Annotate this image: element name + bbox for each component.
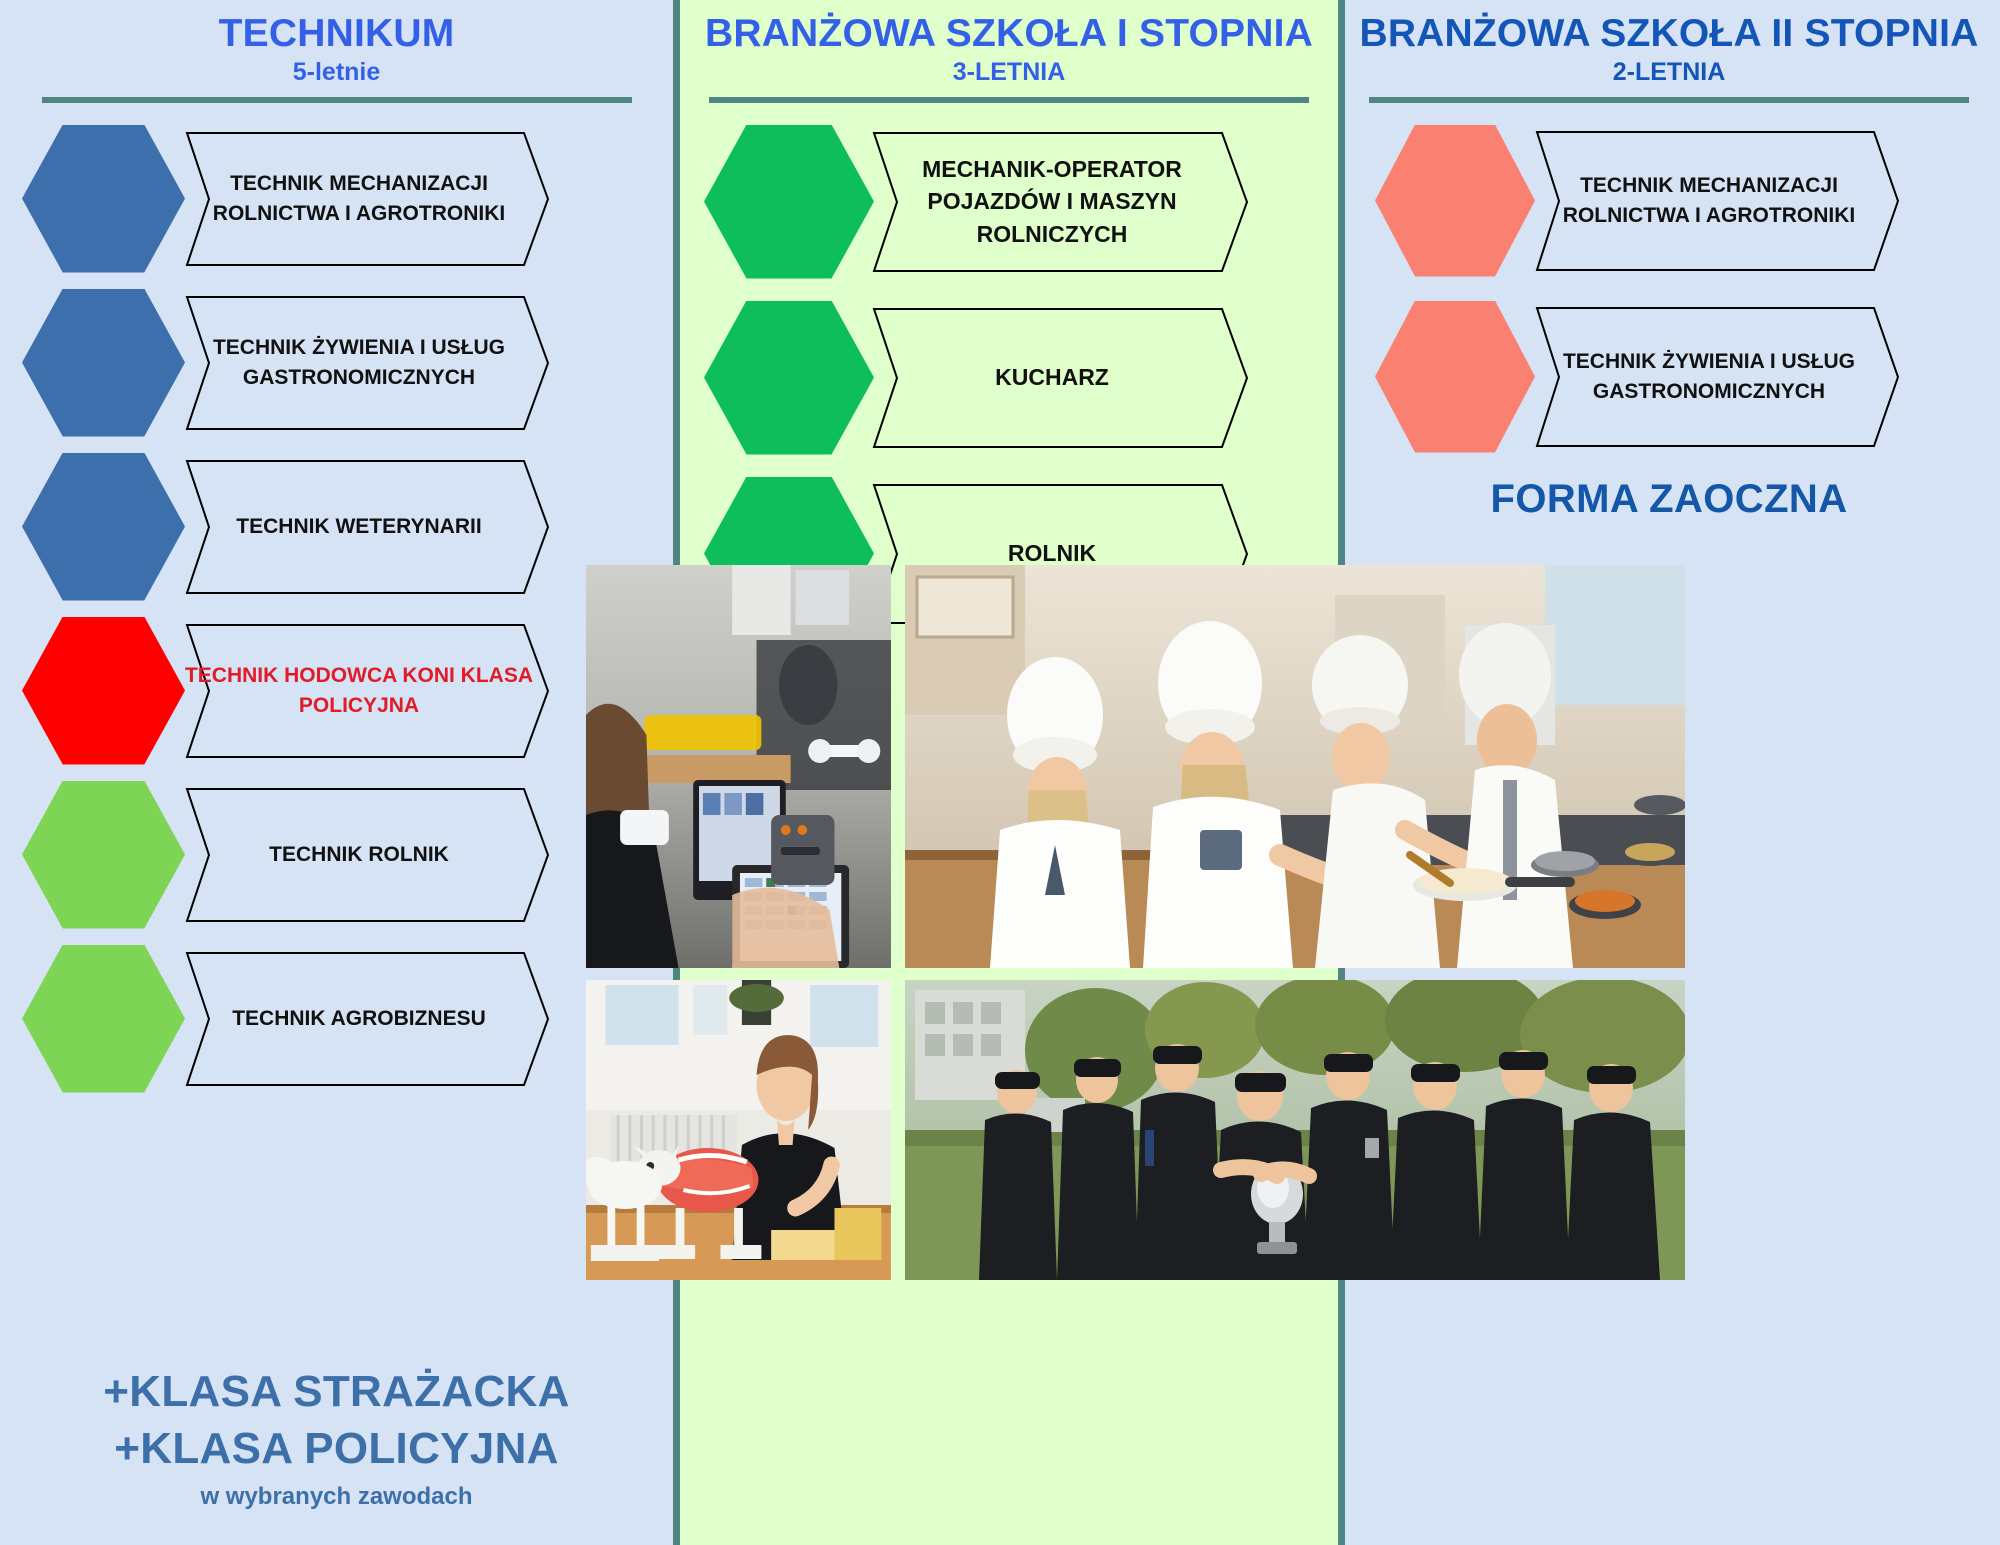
- hexagon-marker: [1375, 125, 1535, 277]
- extra-classes-note: +KLASA STRAŻACKA +KLASA POLICYJNA w wybr…: [0, 1364, 673, 1511]
- program-label: TECHNIK HODOWCA KONI KLASA POLICYJNA: [169, 661, 549, 721]
- program-row[interactable]: MECHANIK-OPERATOR POJAZDÓW I MASZYN ROLN…: [704, 125, 1338, 279]
- forma-zaoczna-label: FORMA ZAOCZNA: [1345, 477, 1993, 522]
- program-chevron[interactable]: KUCHARZ: [856, 308, 1248, 448]
- program-label: TECHNIK MECHANIZACJI ROLNICTWA I AGROTRO…: [169, 169, 549, 229]
- photo-veterinary-model: [586, 980, 891, 1280]
- hexagon-marker: [704, 301, 874, 455]
- program-row[interactable]: TECHNIK AGROBIZNESU: [22, 945, 673, 1093]
- program-row[interactable]: KUCHARZ: [704, 301, 1338, 455]
- column-header-branzowa-ii: BRANŻOWA SZKOŁA II STOPNIA 2-LETNIA: [1345, 0, 1993, 103]
- column-technikum: TECHNIKUM 5-letnie TECHNIK MECHANIZACJI …: [0, 0, 673, 1545]
- column-title: BRANŻOWA SZKOŁA I STOPNIA: [680, 14, 1338, 55]
- program-label: ROLNIK: [998, 537, 1106, 570]
- hexagon-marker: [22, 289, 185, 437]
- column-subtitle: 3-LETNIA: [680, 60, 1338, 85]
- program-chevron[interactable]: TECHNIK MECHANIZACJI ROLNICTWA I AGROTRO…: [169, 132, 549, 266]
- column-subtitle: 5-letnie: [0, 60, 673, 85]
- program-chevron[interactable]: TECHNIK HODOWCA KONI KLASA POLICYJNA: [169, 624, 549, 758]
- hexagon-marker: [704, 125, 874, 279]
- program-list-technikum: TECHNIK MECHANIZACJI ROLNICTWA I AGROTRO…: [0, 103, 673, 1093]
- column-title: BRANŻOWA SZKOŁA II STOPNIA: [1345, 14, 1993, 55]
- program-list-branzowa-ii: TECHNIK MECHANIZACJI ROLNICTWA I AGROTRO…: [1345, 103, 1993, 453]
- hexagon-marker: [22, 617, 185, 765]
- hexagon-marker: [1375, 301, 1535, 453]
- photo-drone-lab: [586, 565, 891, 968]
- program-chevron[interactable]: TECHNIK ŻYWIENIA I USŁUG GASTRONOMICZNYC…: [1519, 307, 1899, 447]
- program-list-branzowa-i: MECHANIK-OPERATOR POJAZDÓW I MASZYN ROLN…: [680, 103, 1338, 631]
- column-header-technikum: TECHNIKUM 5-letnie: [0, 0, 673, 103]
- program-row[interactable]: TECHNIK MECHANIZACJI ROLNICTWA I AGROTRO…: [1375, 125, 1993, 277]
- program-row[interactable]: TECHNIK MECHANIZACJI ROLNICTWA I AGROTRO…: [22, 125, 673, 273]
- program-label: TECHNIK MECHANIZACJI ROLNICTWA I AGROTRO…: [1519, 171, 1899, 231]
- photo-culinary-class-image: [905, 565, 1685, 968]
- program-row[interactable]: TECHNIK ŻYWIENIA I USŁUG GASTRONOMICZNYC…: [1375, 301, 1993, 453]
- note-line-qualifier: w wybranych zawodach: [0, 1483, 673, 1511]
- program-chevron[interactable]: MECHANIK-OPERATOR POJAZDÓW I MASZYN ROLN…: [856, 132, 1248, 272]
- photo-uniformed-class-image: [905, 980, 1685, 1280]
- photo-drone-lab-image: [586, 565, 891, 968]
- program-chevron[interactable]: TECHNIK ŻYWIENIA I USŁUG GASTRONOMICZNYC…: [169, 296, 549, 430]
- program-label: TECHNIK WETERYNARII: [226, 512, 491, 542]
- program-row[interactable]: TECHNIK ŻYWIENIA I USŁUG GASTRONOMICZNYC…: [22, 289, 673, 437]
- note-line-firefighter: +KLASA STRAŻACKA: [0, 1364, 673, 1420]
- program-label: MECHANIK-OPERATOR POJAZDÓW I MASZYN ROLN…: [856, 153, 1248, 251]
- column-header-branzowa-i: BRANŻOWA SZKOŁA I STOPNIA 3-LETNIA: [680, 0, 1338, 103]
- column-title: TECHNIKUM: [0, 14, 673, 55]
- program-label: TECHNIK ROLNIK: [259, 840, 459, 870]
- program-chevron[interactable]: TECHNIK MECHANIZACJI ROLNICTWA I AGROTRO…: [1519, 131, 1899, 271]
- program-chevron[interactable]: TECHNIK WETERYNARII: [169, 460, 549, 594]
- program-chevron[interactable]: TECHNIK AGROBIZNESU: [169, 952, 549, 1086]
- photo-collage: [586, 565, 2000, 1545]
- program-row[interactable]: TECHNIK WETERYNARII: [22, 453, 673, 601]
- photo-culinary-class: [905, 565, 1685, 968]
- program-label: TECHNIK AGROBIZNESU: [222, 1004, 496, 1034]
- program-label: TECHNIK ŻYWIENIA I USŁUG GASTRONOMICZNYC…: [169, 333, 549, 393]
- program-chevron[interactable]: TECHNIK ROLNIK: [169, 788, 549, 922]
- photo-veterinary-model-image: [586, 980, 891, 1280]
- hexagon-marker: [22, 781, 185, 929]
- program-label: KUCHARZ: [985, 361, 1119, 394]
- hexagon-marker: [22, 945, 185, 1093]
- photo-uniformed-class: [905, 980, 1685, 1280]
- hexagon-marker: [22, 453, 185, 601]
- program-row[interactable]: TECHNIK HODOWCA KONI KLASA POLICYJNA: [22, 617, 673, 765]
- column-subtitle: 2-LETNIA: [1345, 60, 1993, 85]
- hexagon-marker: [22, 125, 185, 273]
- program-row[interactable]: TECHNIK ROLNIK: [22, 781, 673, 929]
- program-label: TECHNIK ŻYWIENIA I USŁUG GASTRONOMICZNYC…: [1519, 347, 1899, 407]
- note-line-police: +KLASA POLICYJNA: [0, 1421, 673, 1477]
